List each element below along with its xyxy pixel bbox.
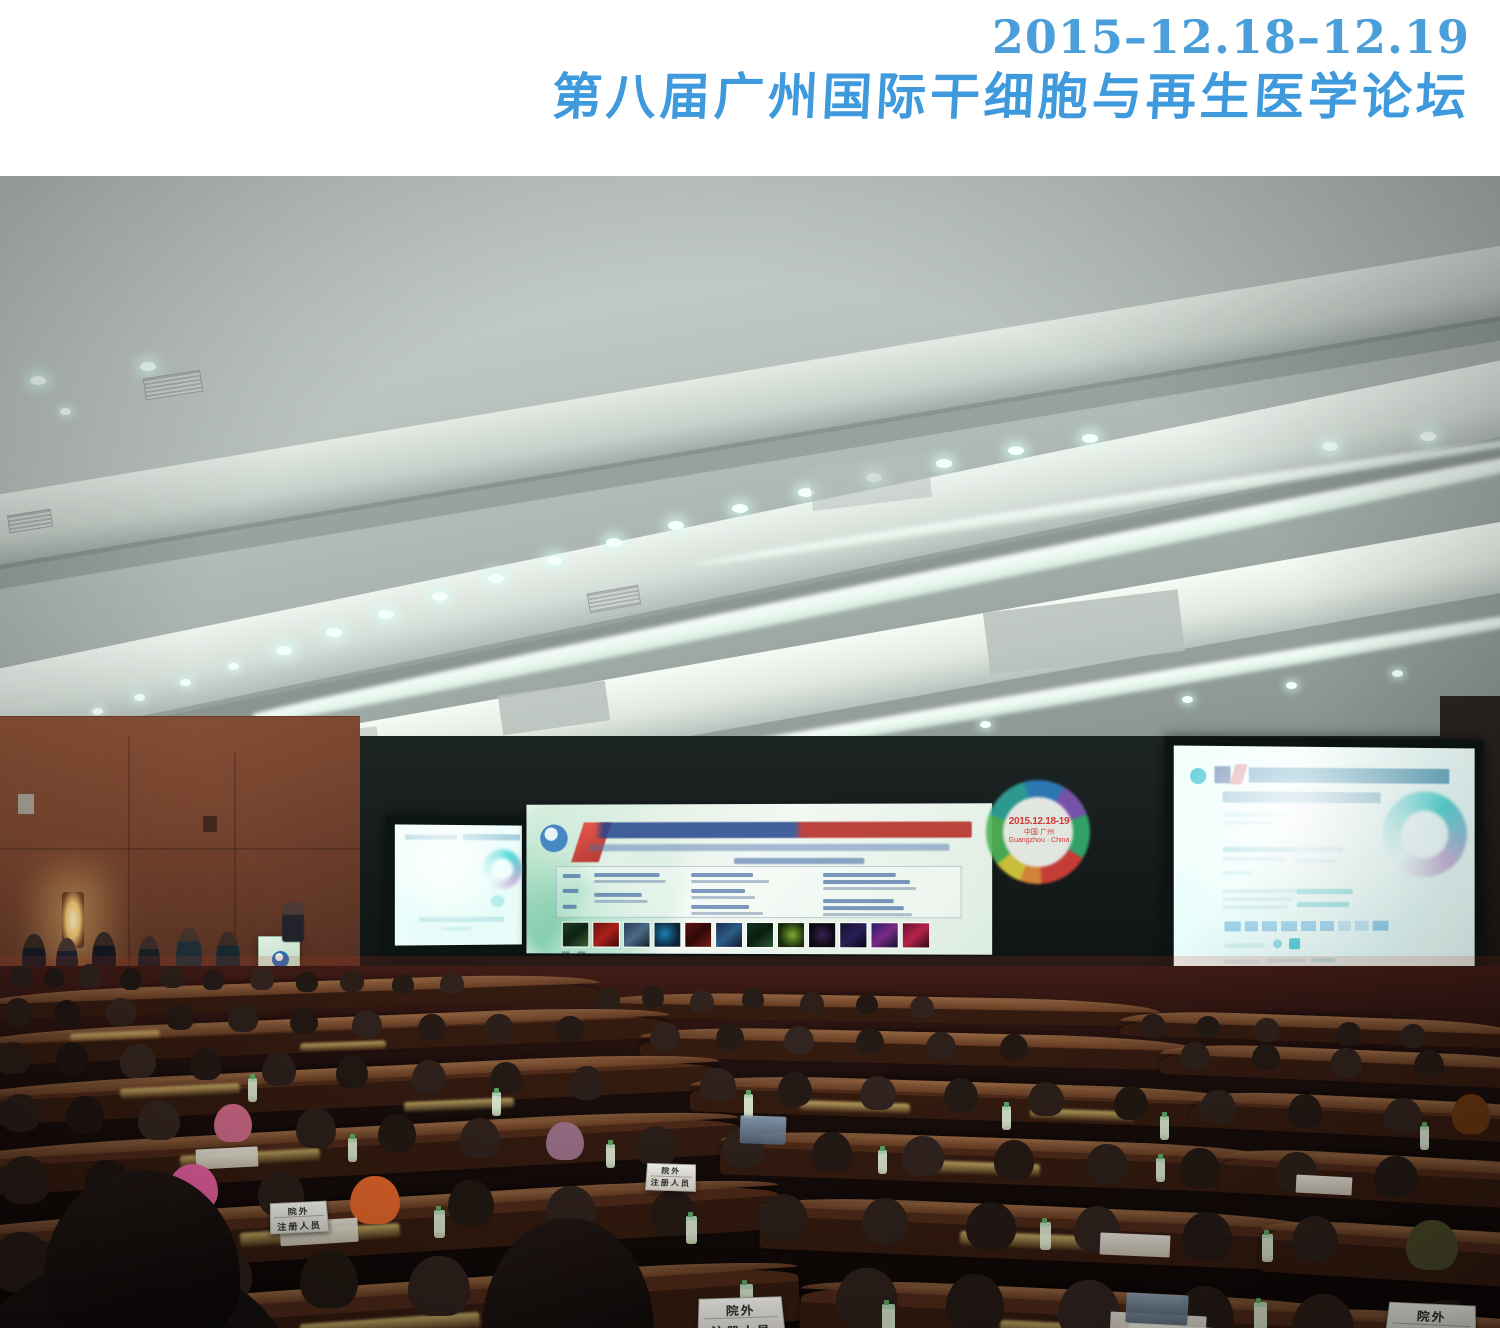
banner-thumbnail bbox=[654, 922, 682, 948]
banner-thumbnail bbox=[839, 922, 867, 948]
header-date: 2015–12.18–12.19 bbox=[552, 8, 1470, 66]
banner-thumbnail bbox=[715, 922, 743, 948]
water-bottle bbox=[686, 1216, 697, 1244]
ring-logo-text: 2015.12.18-19 中国·广州 Guangzhou · China bbox=[1001, 816, 1077, 846]
banner-institute-logo-icon bbox=[540, 824, 567, 852]
banner-thumbnail bbox=[808, 922, 836, 948]
water-bottle bbox=[1156, 1158, 1165, 1182]
page-header: 2015–12.18–12.19 第八届广州国际干细胞与再生医学论坛 bbox=[0, 0, 1500, 176]
laptop bbox=[1125, 1292, 1188, 1325]
right-projection-screen bbox=[1165, 736, 1484, 1003]
laptop bbox=[740, 1115, 787, 1145]
water-bottle bbox=[882, 1304, 895, 1328]
water-bottle bbox=[1040, 1222, 1051, 1250]
left-projection-screen bbox=[386, 815, 531, 955]
note-paper bbox=[1100, 1232, 1171, 1257]
table-tent-card: 院外 注册人员 bbox=[270, 1201, 330, 1235]
banner-thumbnail bbox=[777, 922, 805, 948]
water-bottle bbox=[1002, 1106, 1011, 1130]
conference-photo: 2015.12.18-19 中国·广州 Guangzhou · China bbox=[0, 176, 1500, 1328]
banner-keynote-heading bbox=[734, 858, 864, 864]
banner-title-en bbox=[589, 844, 949, 851]
stage-banner bbox=[526, 803, 992, 955]
water-bottle bbox=[1160, 1116, 1169, 1140]
banner-thumbnail bbox=[870, 922, 898, 948]
water-bottle bbox=[878, 1150, 887, 1174]
header-title: 第八届广州国际干细胞与再生医学论坛 bbox=[550, 66, 1471, 128]
banner-thumbnail bbox=[623, 922, 651, 948]
wall-exit-sign bbox=[18, 794, 34, 814]
banner-thumbnail bbox=[592, 922, 620, 948]
tent-line2: 注册人员 bbox=[698, 1320, 785, 1328]
banner-title-cn bbox=[572, 821, 972, 838]
water-bottle bbox=[434, 1210, 445, 1238]
note-paper bbox=[1296, 1175, 1353, 1196]
banner-content-box bbox=[556, 866, 962, 918]
wall-speaker-box bbox=[203, 816, 217, 832]
tent-line2: 注册人员 bbox=[271, 1218, 328, 1233]
banner-thumbnail bbox=[902, 922, 930, 948]
banner-thumbnail-strip bbox=[562, 922, 930, 949]
ring-logo-city-cn: 中国·广州 bbox=[1001, 829, 1077, 838]
table-tent-card: 院外 注册人员 bbox=[645, 1163, 696, 1192]
tent-line2: 注册人员 bbox=[646, 1177, 695, 1189]
water-bottle bbox=[348, 1138, 357, 1162]
speaker-at-podium bbox=[282, 902, 304, 942]
ring-logo-date: 2015.12.18-19 bbox=[1001, 816, 1077, 829]
water-bottle bbox=[606, 1144, 615, 1168]
banner-thumbnail bbox=[684, 922, 712, 948]
water-bottle bbox=[248, 1078, 257, 1102]
header-text-block: 2015–12.18–12.19 第八届广州国际干细胞与再生医学论坛 bbox=[552, 0, 1470, 128]
water-bottle bbox=[1262, 1234, 1273, 1262]
table-tent-card: 院外 注册人员 bbox=[1383, 1302, 1477, 1328]
water-bottle bbox=[1254, 1302, 1267, 1328]
banner-thumbnail bbox=[562, 922, 590, 948]
table-tent-card: 院外 注册人员 bbox=[697, 1296, 786, 1328]
banner-thumbnail bbox=[746, 922, 774, 948]
ring-logo-city-en: Guangzhou · China bbox=[1001, 837, 1077, 846]
slide-sponsor-chips bbox=[1225, 921, 1389, 932]
water-bottle bbox=[492, 1092, 501, 1116]
water-bottle bbox=[1420, 1126, 1429, 1150]
